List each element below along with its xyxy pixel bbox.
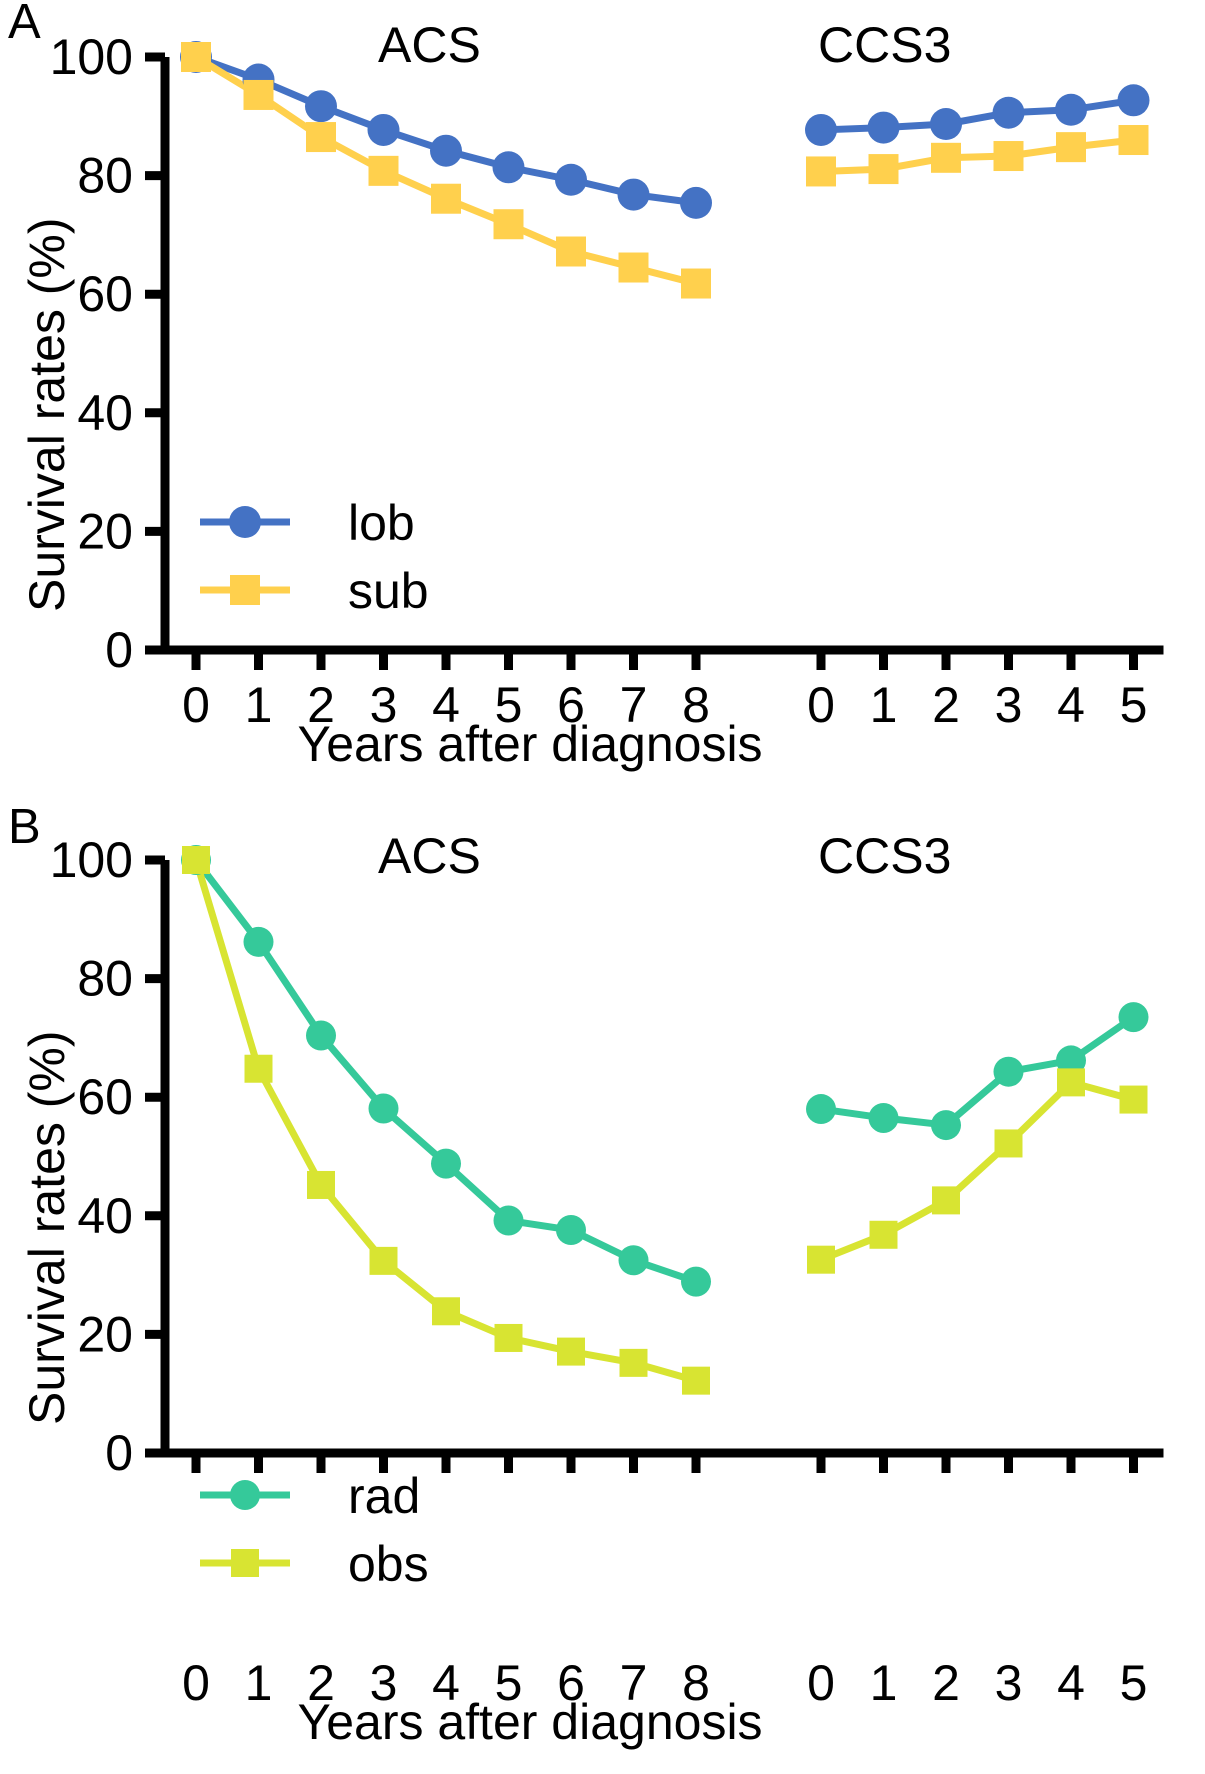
y-tick-label: 40 [77,1188,133,1244]
data-point-lob [618,179,650,211]
data-point-rad [869,1103,899,1133]
x-tick-label: 4 [1057,677,1085,733]
y-tick-label: 0 [105,622,133,678]
data-point-sub [431,184,461,214]
legend-marker-obs [231,1549,259,1577]
data-point-lob [493,151,525,183]
data-point-obs [182,846,210,874]
data-point-sub [306,122,336,152]
series-line-rad [821,1017,1134,1125]
data-point-obs [370,1247,398,1275]
data-point-obs [932,1186,960,1214]
data-point-sub [869,154,899,184]
data-point-rad [1119,1002,1149,1032]
data-point-lob [680,187,712,219]
data-point-lob [930,108,962,140]
data-point-obs [557,1338,585,1366]
data-point-sub [619,253,649,283]
data-point-lob [868,112,900,144]
legend-marker-lob [229,506,261,538]
data-point-obs [432,1297,460,1325]
legend-label-sub: sub [348,563,429,619]
data-point-obs [495,1324,523,1352]
y-tick-label: 20 [77,503,133,559]
y-tick-label: 100 [50,832,133,888]
y-tick-label: 80 [77,951,133,1007]
data-point-obs [995,1129,1023,1157]
y-tick-label: 100 [50,29,133,85]
data-point-rad [244,927,274,957]
legend-label-lob: lob [348,495,415,551]
legend-marker-sub [230,575,260,605]
data-point-obs [870,1221,898,1249]
data-point-sub [494,209,524,239]
panel-b: B Survival rates (%) ACS CCS3 0204060801… [0,805,1205,1774]
data-point-obs [245,1055,273,1083]
legend-label-rad: rad [348,1468,420,1524]
x-tick-label: 4 [1057,1655,1085,1711]
data-point-rad [494,1206,524,1236]
data-point-rad [619,1245,649,1275]
data-point-lob [993,97,1025,129]
panel-b-x-axis-label: Years after diagnosis [0,1693,1060,1751]
data-point-rad [369,1093,399,1123]
data-point-obs [307,1171,335,1199]
data-point-sub [181,42,211,72]
data-point-sub [681,269,711,299]
panel-a-x-axis-label: Years after diagnosis [0,715,1060,773]
data-point-sub [931,143,961,173]
legend-marker-rad [230,1480,260,1510]
x-tick-label: 5 [1120,677,1148,733]
y-tick-label: 60 [77,1069,133,1125]
figure-survival-rates: A Survival rates (%) ACS CCS3 0204060801… [0,0,1205,1774]
y-tick-label: 0 [105,1425,133,1481]
data-point-lob [1055,94,1087,126]
data-point-rad [931,1110,961,1140]
data-point-sub [556,237,586,267]
series-line-obs [821,1082,1134,1259]
data-point-rad [994,1057,1024,1087]
data-point-sub [369,156,399,186]
data-point-obs [807,1246,835,1274]
y-tick-label: 20 [77,1306,133,1362]
data-point-lob [555,164,587,196]
data-point-sub [1119,125,1149,155]
data-point-lob [305,90,337,122]
data-point-obs [682,1367,710,1395]
panel-a: A Survival rates (%) ACS CCS3 0204060801… [0,0,1205,880]
data-point-lob [368,114,400,146]
data-point-sub [994,141,1024,171]
y-tick-label: 40 [77,385,133,441]
data-point-rad [681,1267,711,1297]
data-point-sub [1056,132,1086,162]
data-point-obs [1057,1068,1085,1096]
data-point-rad [431,1149,461,1179]
x-tick-label: 5 [1120,1655,1148,1711]
series-line-sub [821,140,1134,171]
data-point-sub [806,156,836,186]
data-point-lob [430,135,462,167]
data-point-obs [620,1349,648,1377]
data-point-obs [1120,1086,1148,1114]
data-point-lob [805,114,837,146]
y-tick-label: 60 [77,266,133,322]
y-tick-label: 80 [77,148,133,204]
data-point-rad [556,1215,586,1245]
data-point-rad [306,1021,336,1051]
data-point-rad [806,1094,836,1124]
data-point-lob [1118,84,1150,116]
legend-label-obs: obs [348,1536,429,1592]
panel-b-plot: 020406080100012345678012345radobs [0,805,1205,1774]
data-point-sub [244,80,274,110]
